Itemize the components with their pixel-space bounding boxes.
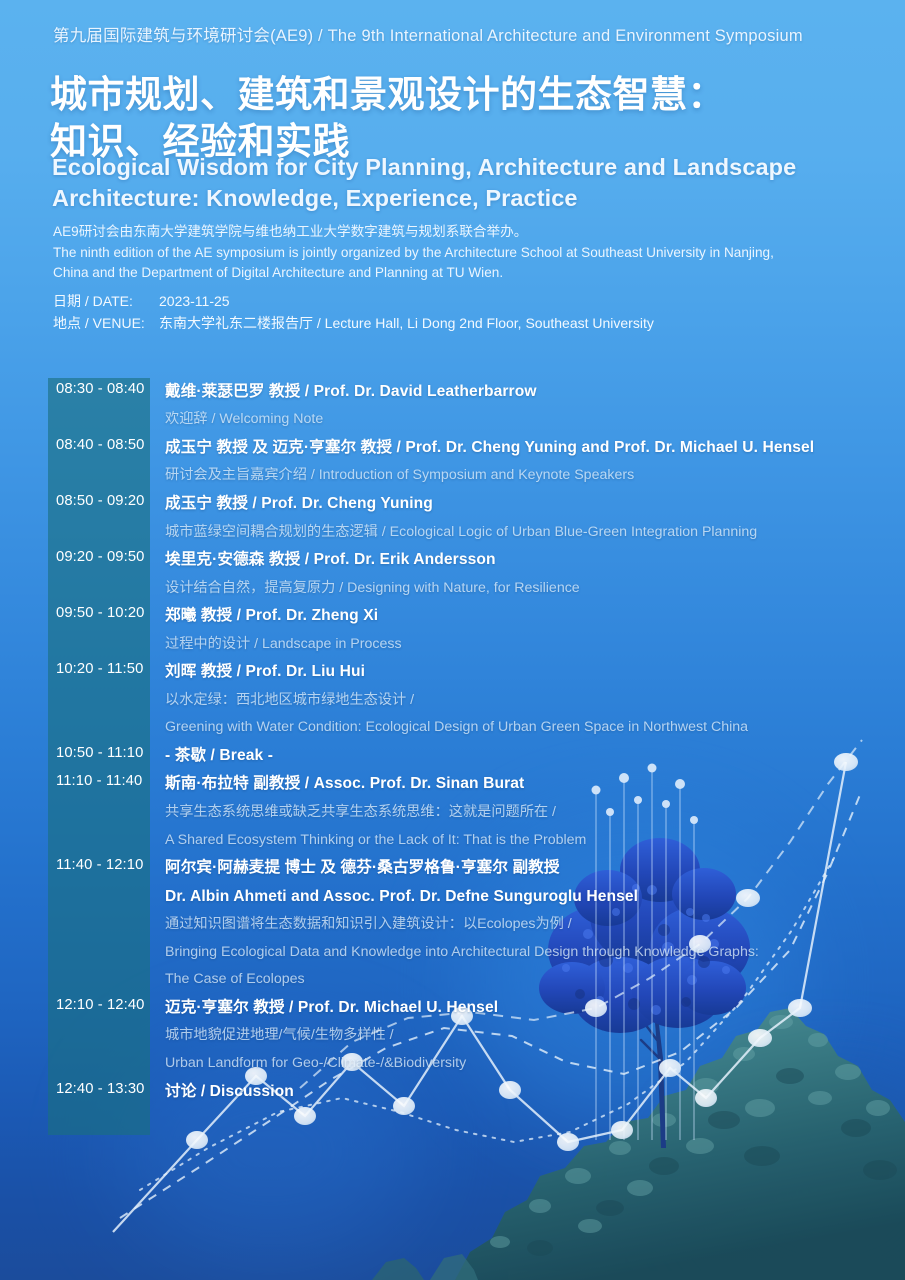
schedule-topic: A Shared Ecosystem Thinking or the Lack …	[165, 827, 858, 855]
schedule-time: 11:40 - 12:10	[48, 854, 150, 994]
schedule-topic: 以水定绿：西北地区城市绿地生态设计 /	[165, 687, 858, 715]
schedule-entry: 戴维·莱瑟巴罗 教授 / Prof. Dr. David Leatherbarr…	[150, 378, 858, 434]
schedule-table: 08:30 - 08:40戴维·莱瑟巴罗 教授 / Prof. Dr. Davi…	[48, 378, 858, 1106]
schedule-speaker: 埃里克·安德森 教授 / Prof. Dr. Erik Andersson	[165, 546, 858, 574]
schedule-time: 12:10 - 12:40	[48, 994, 150, 1078]
schedule-time: 08:50 - 09:20	[48, 490, 150, 546]
schedule-topic: 通过知识图谱将生态数据和知识引入建筑设计：以Ecolopes为例 /	[165, 911, 858, 939]
schedule-row: 11:40 - 12:10阿尔宾·阿赫麦提 博士 及 德芬·桑古罗格鲁·亨塞尔 …	[48, 854, 858, 994]
symposium-kicker: 第九届国际建筑与环境研讨会(AE9) / The 9th Internation…	[53, 22, 863, 46]
title-cn-line-1: 城市规划、建筑和景观设计的生态智慧：	[50, 72, 880, 119]
meta-row-venue: 地点 / VENUE: 东南大学礼东二楼报告厅 / Lecture Hall, …	[53, 313, 813, 335]
schedule-row: 11:10 - 11:40斯南·布拉特 副教授 / Assoc. Prof. D…	[48, 770, 858, 854]
schedule-speaker: 郑曦 教授 / Prof. Dr. Zheng Xi	[165, 602, 858, 630]
schedule-speaker-line-2: Dr. Albin Ahmeti and Assoc. Prof. Dr. De…	[165, 883, 858, 911]
venue-label: 地点 / VENUE:	[53, 313, 159, 335]
schedule-entry: 刘晖 教授 / Prof. Dr. Liu Hui以水定绿：西北地区城市绿地生态…	[150, 658, 858, 742]
schedule-time: 09:50 - 10:20	[48, 602, 150, 658]
schedule-topic: Urban Landform for Geo-/Climate-/&Biodiv…	[165, 1050, 858, 1078]
symposium-poster: 第九届国际建筑与环境研讨会(AE9) / The 9th Internation…	[0, 0, 905, 1280]
schedule-speaker: 迈克·亨塞尔 教授 / Prof. Dr. Michael U. Hensel	[165, 994, 858, 1022]
schedule-topic: 设计结合自然，提高复原力 / Designing with Nature, fo…	[165, 575, 858, 603]
schedule-entry: 斯南·布拉特 副教授 / Assoc. Prof. Dr. Sinan Bura…	[150, 770, 858, 854]
schedule-entry: 成玉宁 教授 / Prof. Dr. Cheng Yuning城市蓝绿空间耦合规…	[150, 490, 858, 546]
schedule-topic: 过程中的设计 / Landscape in Process	[165, 631, 858, 659]
schedule-time: 09:20 - 09:50	[48, 546, 150, 602]
meta-row-date: 日期 / DATE: 2023-11-25	[53, 291, 813, 313]
blurb-english-line-1: The ninth edition of the AE symposium is…	[53, 243, 873, 264]
title-en-line-1: Ecological Wisdom for City Planning, Arc…	[52, 152, 882, 183]
organizer-blurb: AE9研讨会由东南大学建筑学院与维也纳工业大学数字建筑与规划系联合举办。 The…	[53, 222, 873, 284]
schedule-speaker: - 茶歇 / Break -	[165, 742, 858, 770]
schedule-entry: 迈克·亨塞尔 教授 / Prof. Dr. Michael U. Hensel城…	[150, 994, 858, 1078]
schedule-topic: Bringing Ecological Data and Knowledge i…	[165, 939, 858, 967]
schedule-speaker: 刘晖 教授 / Prof. Dr. Liu Hui	[165, 658, 858, 686]
schedule-time: 12:40 - 13:30	[48, 1078, 150, 1106]
schedule-entry: - 茶歇 / Break -	[150, 742, 858, 770]
schedule-rows: 08:30 - 08:40戴维·莱瑟巴罗 教授 / Prof. Dr. Davi…	[48, 378, 858, 1106]
schedule-row: 10:50 - 11:10- 茶歇 / Break -	[48, 742, 858, 770]
schedule-topic: Greening with Water Condition: Ecologica…	[165, 714, 858, 742]
schedule-row: 08:50 - 09:20成玉宁 教授 / Prof. Dr. Cheng Yu…	[48, 490, 858, 546]
schedule-speaker: 讨论 / Discussion	[165, 1078, 858, 1106]
schedule-entry: 讨论 / Discussion	[150, 1078, 858, 1106]
event-meta: 日期 / DATE: 2023-11-25 地点 / VENUE: 东南大学礼东…	[53, 291, 813, 334]
schedule-entry: 郑曦 教授 / Prof. Dr. Zheng Xi过程中的设计 / Lands…	[150, 602, 858, 658]
schedule-topic: 共享生态系统思维或缺乏共享生态系统思维：这就是问题所在 /	[165, 799, 858, 827]
schedule-speaker: 斯南·布拉特 副教授 / Assoc. Prof. Dr. Sinan Bura…	[165, 770, 858, 798]
schedule-row: 09:50 - 10:20郑曦 教授 / Prof. Dr. Zheng Xi过…	[48, 602, 858, 658]
schedule-speaker: 戴维·莱瑟巴罗 教授 / Prof. Dr. David Leatherbarr…	[165, 378, 858, 406]
schedule-topic: 城市地貌促进地理/气候/生物多样性 /	[165, 1022, 858, 1050]
schedule-entry: 埃里克·安德森 教授 / Prof. Dr. Erik Andersson设计结…	[150, 546, 858, 602]
schedule-time: 10:20 - 11:50	[48, 658, 150, 742]
schedule-row: 08:30 - 08:40戴维·莱瑟巴罗 教授 / Prof. Dr. Davi…	[48, 378, 858, 434]
schedule-time: 10:50 - 11:10	[48, 742, 150, 770]
schedule-topic: The Case of Ecolopes	[165, 966, 858, 994]
glow-highlight-right	[700, 1090, 905, 1280]
blurb-chinese: AE9研讨会由东南大学建筑学院与维也纳工业大学数字建筑与规划系联合举办。	[53, 222, 873, 243]
schedule-row: 08:40 - 08:50成玉宁 教授 及 迈克·亨塞尔 教授 / Prof. …	[48, 434, 858, 490]
schedule-time: 08:30 - 08:40	[48, 378, 150, 434]
schedule-entry: 成玉宁 教授 及 迈克·亨塞尔 教授 / Prof. Dr. Cheng Yun…	[150, 434, 858, 490]
schedule-topic: 城市蓝绿空间耦合规划的生态逻辑 / Ecological Logic of Ur…	[165, 519, 858, 547]
page-title-english: Ecological Wisdom for City Planning, Arc…	[52, 152, 882, 213]
schedule-speaker: 成玉宁 教授 / Prof. Dr. Cheng Yuning	[165, 490, 858, 518]
schedule-row: 10:20 - 11:50刘晖 教授 / Prof. Dr. Liu Hui以水…	[48, 658, 858, 742]
schedule-entry: 阿尔宾·阿赫麦提 博士 及 德芬·桑古罗格鲁·亨塞尔 副教授Dr. Albin …	[150, 854, 858, 994]
schedule-row: 12:10 - 12:40迈克·亨塞尔 教授 / Prof. Dr. Micha…	[48, 994, 858, 1078]
date-value: 2023-11-25	[159, 291, 813, 313]
blurb-english-line-2: China and the Department of Digital Arch…	[53, 263, 873, 284]
schedule-time: 08:40 - 08:50	[48, 434, 150, 490]
schedule-speaker: 阿尔宾·阿赫麦提 博士 及 德芬·桑古罗格鲁·亨塞尔 副教授	[165, 854, 858, 882]
schedule-row: 09:20 - 09:50埃里克·安德森 教授 / Prof. Dr. Erik…	[48, 546, 858, 602]
schedule-speaker: 成玉宁 教授 及 迈克·亨塞尔 教授 / Prof. Dr. Cheng Yun…	[165, 434, 858, 462]
title-en-line-2: Architecture: Knowledge, Experience, Pra…	[52, 183, 882, 214]
schedule-topic: 欢迎辞 / Welcoming Note	[165, 406, 858, 434]
venue-value: 东南大学礼东二楼报告厅 / Lecture Hall, Li Dong 2nd …	[159, 313, 813, 335]
schedule-topic: 研讨会及主旨嘉宾介绍 / Introduction of Symposium a…	[165, 462, 858, 490]
schedule-row: 12:40 - 13:30讨论 / Discussion	[48, 1078, 858, 1106]
date-label: 日期 / DATE:	[53, 291, 159, 313]
schedule-time: 11:10 - 11:40	[48, 770, 150, 854]
